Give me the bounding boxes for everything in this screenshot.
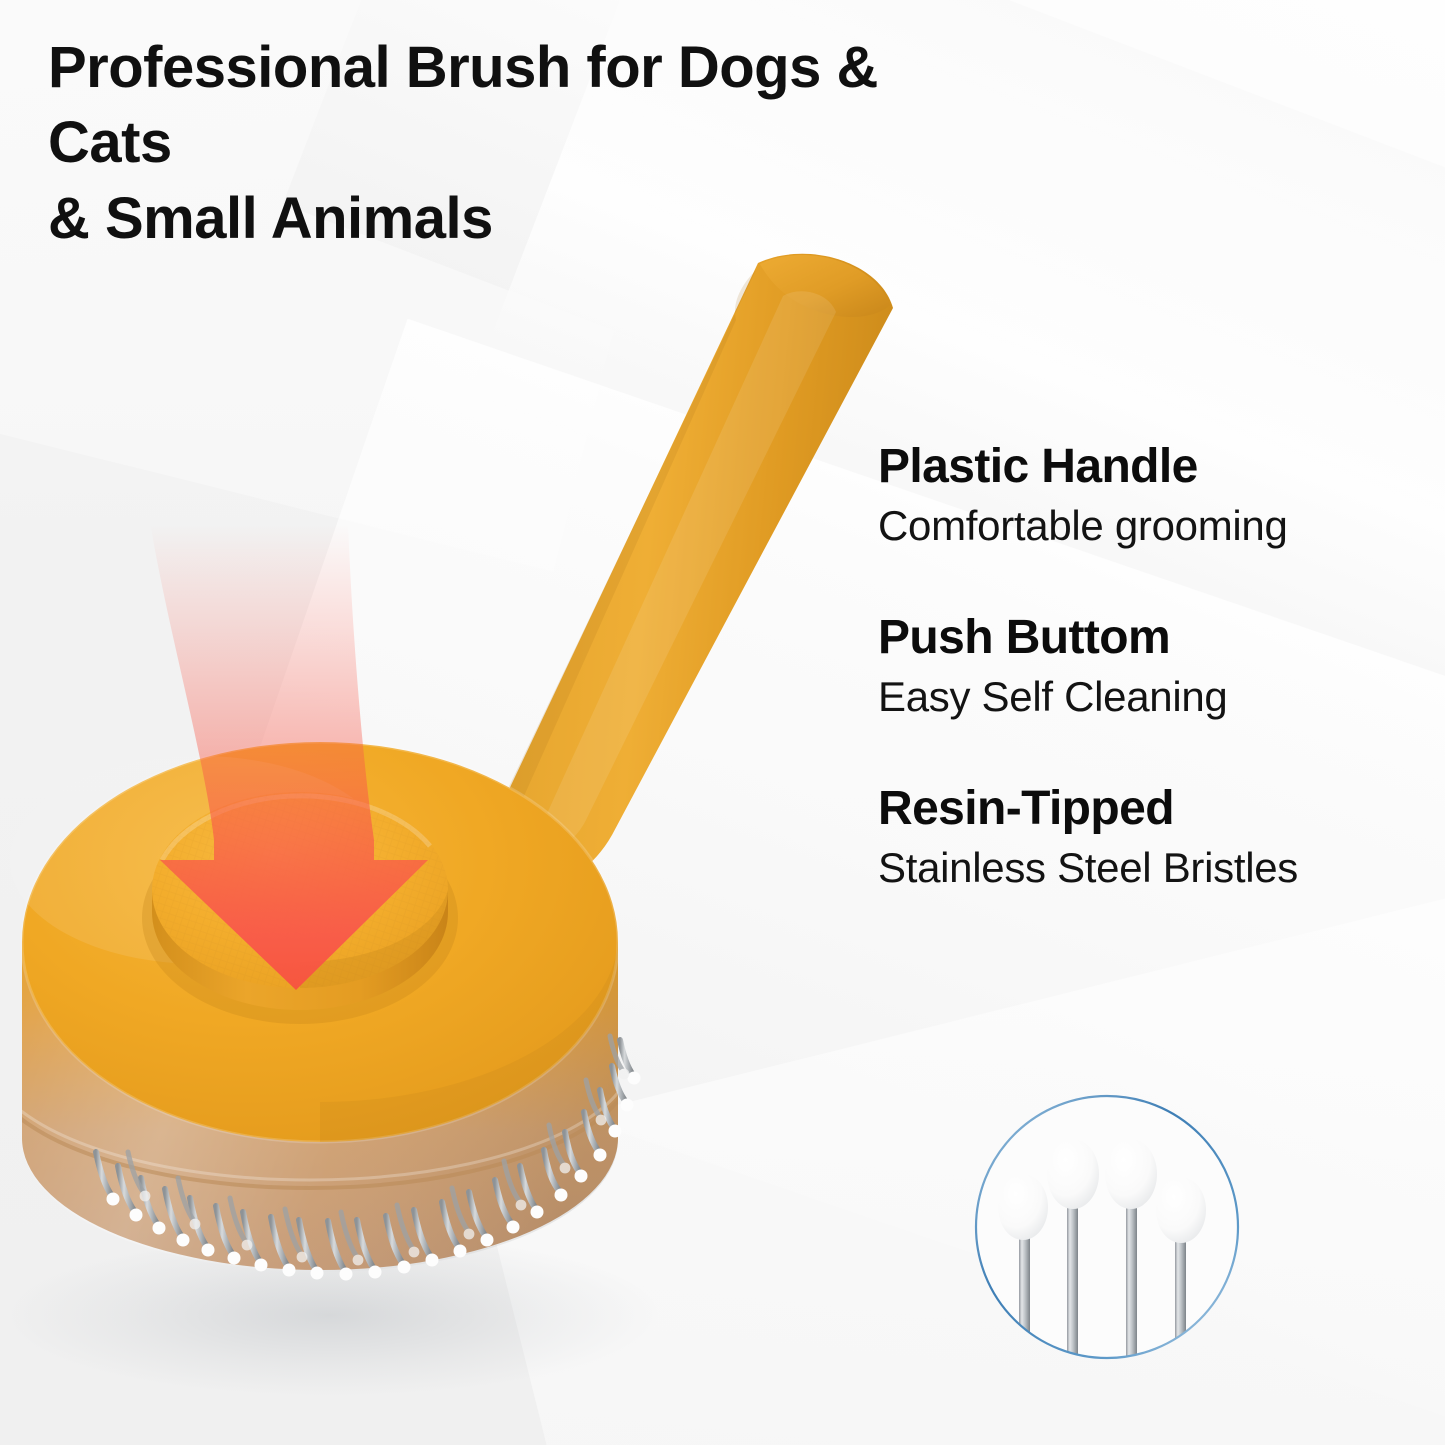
feature-subtitle: Comfortable grooming [878,500,1418,551]
brush-handle [470,254,893,892]
feature-item-push-buttom: Push Buttom Easy Self Cleaning [878,611,1418,722]
feature-title: Plastic Handle [878,440,1418,494]
product-infographic: Professional Brush for Dogs & Cats & Sma… [0,0,1445,1445]
resin-tipped-bristle-closeup [963,1082,1251,1374]
feature-item-plastic-handle: Plastic Handle Comfortable grooming [878,440,1418,551]
feature-item-resin-tipped: Resin-Tipped Stainless Steel Bristles [878,782,1418,893]
product-illustration [0,200,960,1430]
feature-list: Plastic Handle Comfortable grooming Push… [878,440,1418,893]
feature-subtitle: Stainless Steel Bristles [878,842,1418,893]
feature-title: Push Buttom [878,611,1418,665]
feature-title: Resin-Tipped [878,782,1418,836]
feature-subtitle: Easy Self Cleaning [878,671,1418,722]
